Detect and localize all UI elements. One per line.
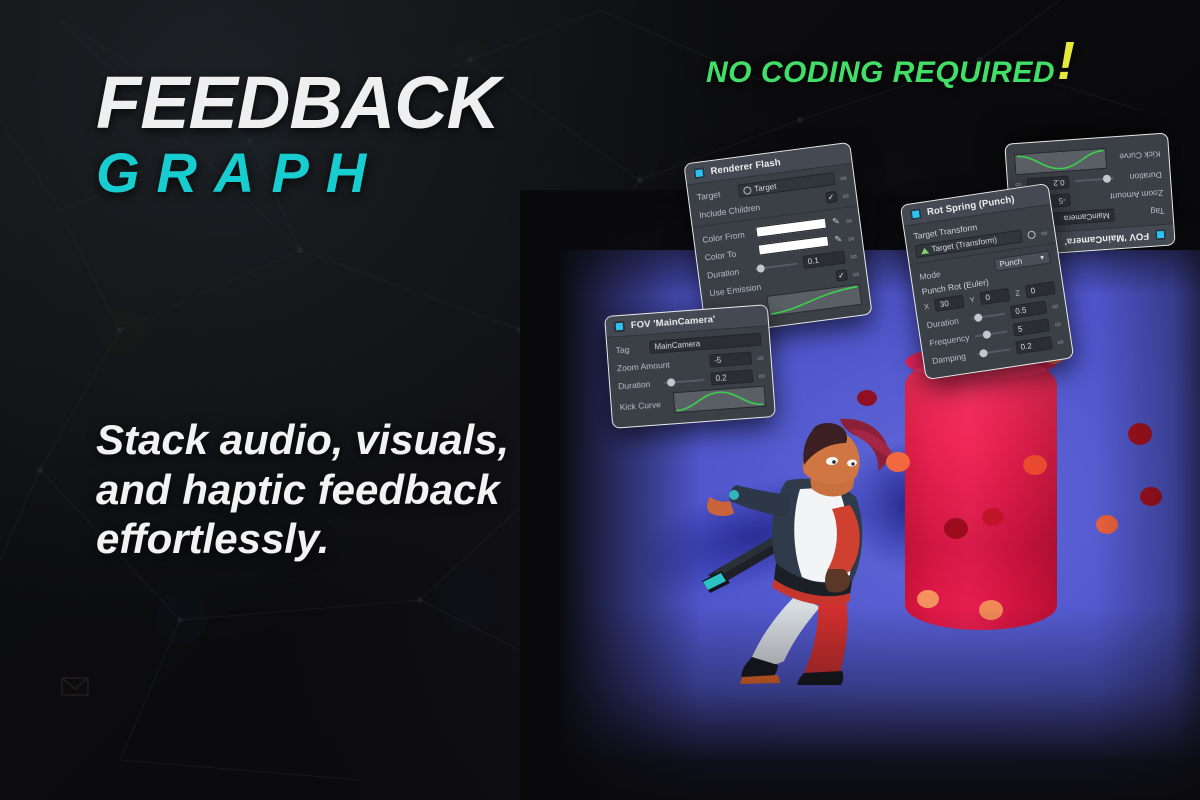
eyedropper-icon[interactable]: ✎ [834,234,843,246]
panel-title: FOV 'MainCamera' [630,314,715,331]
particle [917,590,939,608]
logo-title-main: FEEDBACK [96,68,499,138]
kick-curve-label: Kick Curve [1112,150,1161,163]
duration-slider[interactable] [664,373,705,388]
target-object-value: Target [754,182,777,194]
duration-label: Duration [1120,170,1163,183]
link-icon[interactable]: ∞ [850,251,857,262]
promo-banner: FEEDBACK GRAPH NO CODING REQUIRED ! Stac… [0,0,1200,800]
particle [857,390,877,406]
x-label: X [923,302,929,312]
duration-slider[interactable] [971,307,1005,324]
inspector-panel-fov[interactable]: FOV 'MainCamera' Tag MainCamera Zoom Amo… [604,304,776,429]
brand-logo: FEEDBACK GRAPH [96,68,499,203]
damping-slider[interactable] [977,343,1011,360]
y-input[interactable]: 0 [980,288,1011,305]
tag-label: Tag [1120,206,1165,219]
particle [1023,455,1047,475]
x-input[interactable]: 30 [934,295,965,312]
particle [1140,487,1162,506]
color-to-label: Color To [704,246,753,262]
inspector-panel-renderer-flash[interactable]: Renderer Flash Target Target ∞ Include C… [683,142,872,336]
zoom-amount-label: Zoom Amount [1076,188,1163,204]
link-icon[interactable]: ∞ [852,268,859,279]
duration-slider[interactable] [1075,173,1114,188]
frequency-input[interactable]: 5 [1012,318,1050,336]
duration-label: Duration [926,314,967,330]
link-icon[interactable]: ∞ [845,215,852,226]
target-transform-value: Target (Transform) [931,235,998,254]
z-label: Z [1015,288,1021,298]
link-icon[interactable]: ∞ [757,352,763,362]
duration-label: Duration [618,378,659,391]
component-toggle-icon[interactable] [613,321,625,333]
object-picker-icon[interactable] [1027,230,1036,239]
component-toggle-icon[interactable] [1155,229,1167,241]
particle [1096,515,1118,534]
kick-curve-widget[interactable] [1014,148,1107,175]
target-cylinder [905,355,1057,630]
target-label: Target [696,187,733,202]
eyedropper-icon[interactable]: ✎ [832,216,841,228]
tagline: Stack audio, visuals, and haptic feedbac… [96,415,616,564]
badge-exclamation: ! [1057,42,1075,81]
particle [982,508,1004,526]
link-icon[interactable]: ∞ [1051,300,1058,311]
z-input[interactable]: 0 [1025,281,1056,298]
frequency-slider[interactable] [974,325,1008,342]
duration-input[interactable]: 0.1 [802,251,845,269]
component-toggle-icon[interactable] [910,208,923,221]
inspector-panel-rot-spring[interactable]: Rot Spring (Punch) Target Transform Targ… [900,183,1075,380]
particle [979,600,1003,620]
link-icon[interactable]: ∞ [842,190,849,201]
y-label: Y [969,295,975,305]
use-emission-checkbox[interactable]: ✓ [835,269,847,281]
duration-slider[interactable] [754,257,798,274]
link-icon[interactable]: ∞ [758,370,764,380]
game-character [700,385,930,685]
link-icon[interactable]: ∞ [1057,336,1064,347]
frequency-label: Frequency [929,332,970,348]
link-icon[interactable]: ∞ [847,233,854,244]
color-from-label: Color From [702,228,751,244]
tag-label: Tag [615,343,644,355]
link-icon[interactable]: ∞ [839,172,846,183]
component-toggle-icon[interactable] [693,167,705,179]
no-coding-badge: NO CODING REQUIRED ! [706,58,1075,88]
zoom-amount-label: Zoom Amount [617,357,704,373]
damping-label: Damping [931,350,972,366]
panel-title: FOV 'MainCamera' [1064,230,1149,247]
particle [886,452,910,472]
object-picker-icon[interactable] [743,186,752,195]
duration-input[interactable]: 0.2 [710,369,753,385]
chevron-down-icon: ▼ [1039,255,1046,262]
link-icon[interactable]: ∞ [1040,227,1047,238]
damping-input[interactable]: 0.2 [1015,336,1053,354]
mode-dropdown-value: Punch [999,257,1023,269]
include-children-checkbox[interactable]: ✓ [825,191,837,203]
duration-label: Duration [706,265,749,280]
duration-input[interactable]: 0.5 [1009,301,1047,319]
tagline-line-2: and haptic feedback [96,465,616,515]
link-icon[interactable]: ∞ [1054,318,1061,329]
tagline-line-3: effortlessly. [96,514,616,564]
tagline-line-1: Stack audio, visuals, [96,415,616,465]
particle [944,518,968,539]
zoom-amount-input[interactable]: -5 [709,352,752,368]
particle [1128,423,1152,445]
kick-curve-widget[interactable] [673,386,766,414]
logo-title-sub: GRAPH [96,144,499,203]
kick-curve-label: Kick Curve [619,398,668,411]
transform-icon [920,247,929,254]
badge-text: NO CODING REQUIRED [706,58,1055,88]
